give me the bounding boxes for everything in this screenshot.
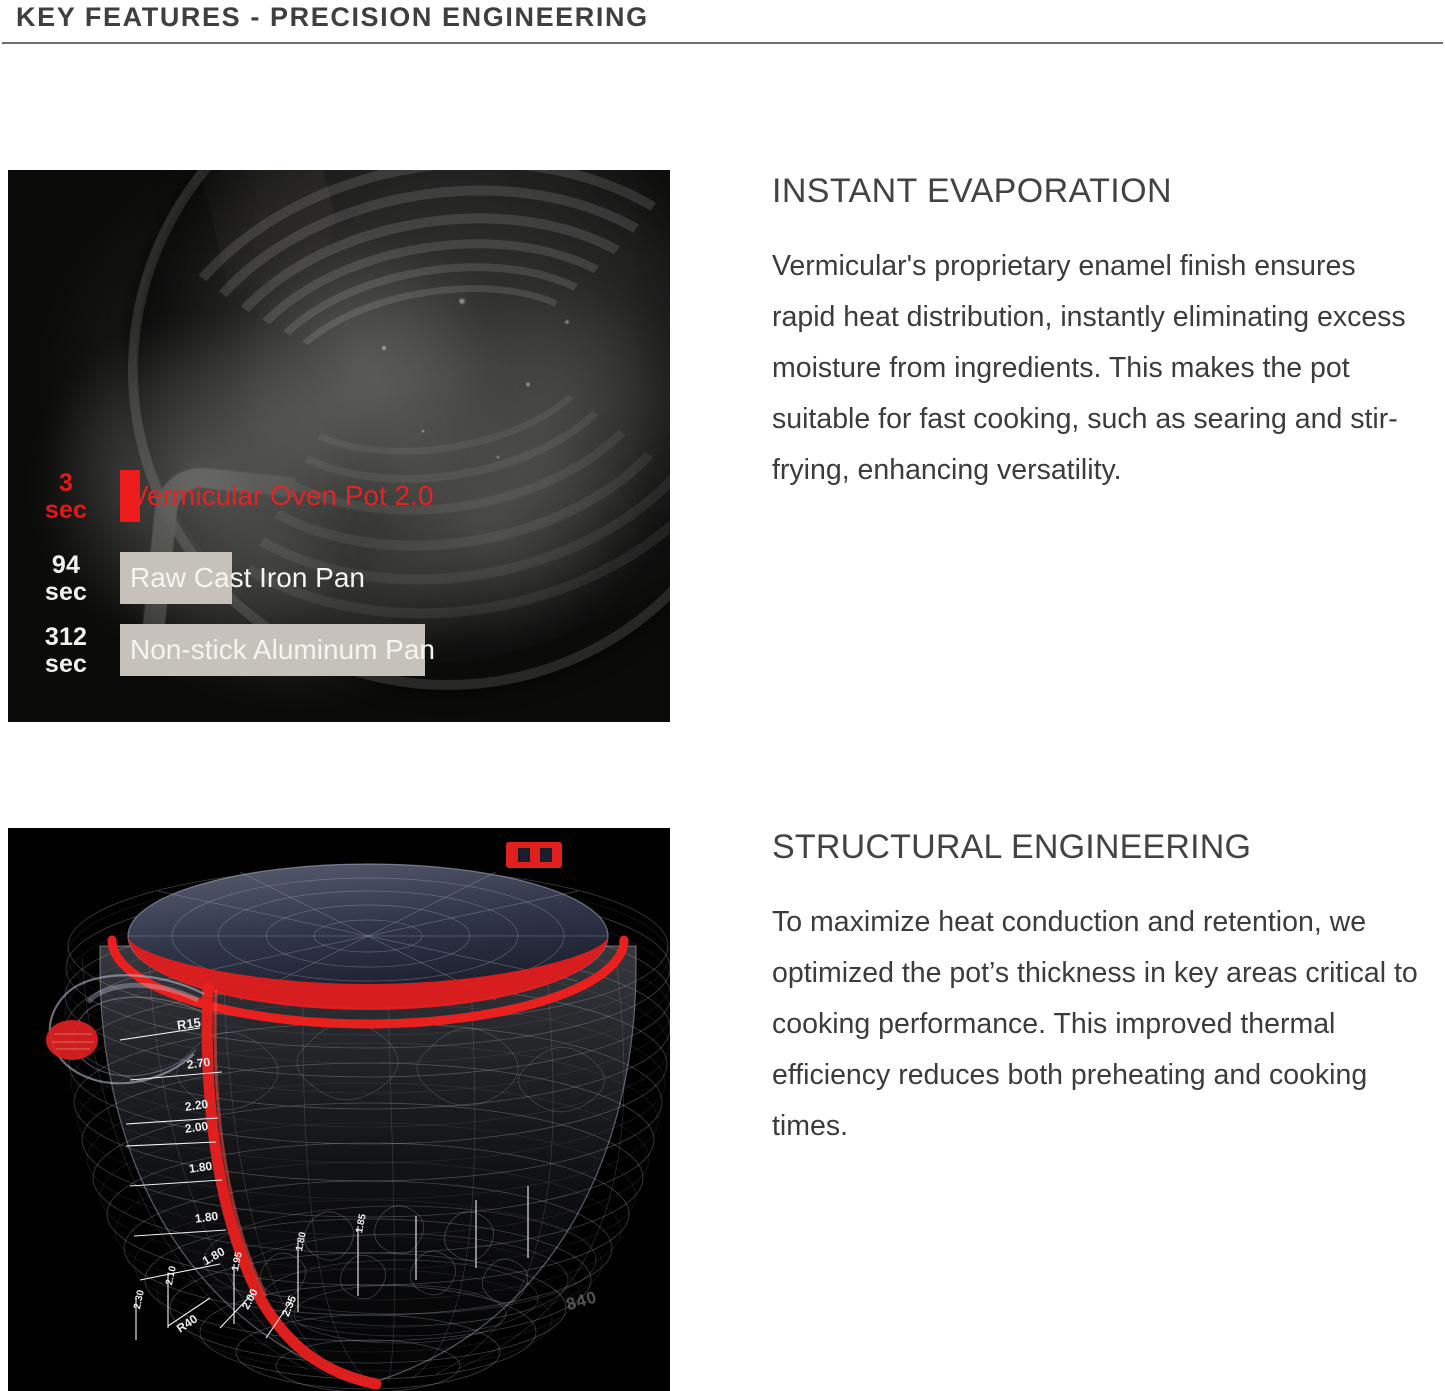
evaporation-bar-value: 3sec (30, 470, 102, 524)
page-title: KEY FEATURES - PRECISION ENGINEERING (16, 2, 649, 33)
feature-copy-instant-evaporation: INSTANT EVAPORATION Vermicular's proprie… (772, 172, 1422, 496)
header-divider (2, 42, 1443, 44)
feature-section-structural-engineering: . R152.702.202.001.801.801.80R402.002.35… (0, 828, 1445, 1391)
evaporation-bar-value: 312sec (30, 624, 102, 678)
page-header: KEY FEATURES - PRECISION ENGINEERING (0, 0, 1445, 48)
feature-section-instant-evaporation: 3secVermicular Oven Pot 2.094secRaw Cast… (0, 170, 1445, 722)
evaporation-bar-unit: sec (30, 651, 102, 678)
evaporation-bar-unit: sec (30, 579, 102, 606)
evaporation-bar-label: Non-stick Aluminum Pan (130, 633, 435, 667)
feature-body: Vermicular's proprietary enamel finish e… (772, 241, 1422, 496)
evaporation-bar-label: Raw Cast Iron Pan (130, 561, 365, 595)
steaming-pot-photo: 3secVermicular Oven Pot 2.094secRaw Cast… (8, 170, 670, 722)
feature-title: INSTANT EVAPORATION (772, 172, 1422, 211)
feature-body: To maximize heat conduction and retentio… (772, 897, 1422, 1152)
feature-title: STRUCTURAL ENGINEERING (772, 828, 1422, 867)
steam-plume (448, 280, 670, 530)
cad-wireframe-pot: . R152.702.202.001.801.801.80R402.002.35… (8, 828, 670, 1391)
evaporation-bar-unit: sec (30, 497, 102, 524)
feature-copy-structural-engineering: STRUCTURAL ENGINEERING To maximize heat … (772, 828, 1422, 1152)
evaporation-bar-label: Vermicular Oven Pot 2.0 (130, 479, 433, 513)
evaporation-bar-value: 94sec (30, 552, 102, 606)
cad-scene: . R152.702.202.001.801.801.80R402.002.35… (8, 828, 670, 1391)
